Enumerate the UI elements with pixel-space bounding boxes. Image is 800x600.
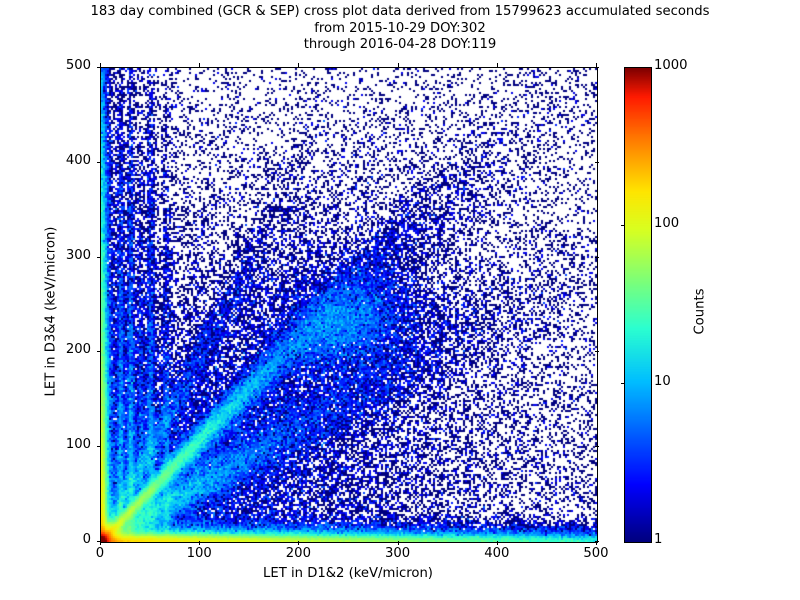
- colorbar-tick-label: 10: [654, 374, 671, 389]
- colorbar-tick-mark: [621, 225, 625, 226]
- y-tick-mark: [97, 162, 101, 163]
- y-tick-mark: [595, 541, 599, 542]
- y-tick-label: 200: [31, 342, 91, 357]
- y-axis-label: LET in D3&4 (keV/micron): [44, 172, 59, 452]
- x-tick-mark: [497, 63, 498, 67]
- y-tick-label: 0: [31, 532, 91, 547]
- y-tick-mark: [97, 541, 101, 542]
- y-tick-mark: [595, 257, 599, 258]
- x-tick-mark: [199, 63, 200, 67]
- title-line-1: 183 day combined (GCR & SEP) cross plot …: [0, 4, 800, 21]
- plot-area: [100, 67, 598, 543]
- title-line-2: from 2015-10-29 DOY:302: [0, 21, 800, 38]
- x-tick-mark: [497, 541, 498, 545]
- density-scatter-canvas: [101, 68, 597, 542]
- x-tick-mark: [298, 541, 299, 545]
- y-tick-label: 100: [31, 437, 91, 452]
- colorbar-gradient: [625, 68, 651, 542]
- y-tick-label: 400: [31, 153, 91, 168]
- x-tick-mark: [199, 541, 200, 545]
- colorbar-tick-label: 1000: [654, 58, 688, 73]
- y-tick-mark: [97, 257, 101, 258]
- x-tick-mark: [398, 541, 399, 545]
- colorbar-title: Counts: [693, 212, 708, 412]
- y-tick-mark: [97, 67, 101, 68]
- y-tick-label: 500: [31, 58, 91, 73]
- x-tick-label: 500: [566, 546, 626, 561]
- x-tick-mark: [298, 63, 299, 67]
- colorbar: [624, 67, 652, 543]
- x-tick-label: 200: [268, 546, 328, 561]
- x-tick-label: 300: [368, 546, 428, 561]
- title-line-3: through 2016-04-28 DOY:119: [0, 37, 800, 54]
- figure-root: 183 day combined (GCR & SEP) cross plot …: [0, 0, 800, 600]
- y-tick-mark: [97, 351, 101, 352]
- y-tick-mark: [595, 162, 599, 163]
- colorbar-tick-label: 1: [654, 532, 662, 547]
- y-tick-label: 300: [31, 248, 91, 263]
- y-tick-mark: [97, 446, 101, 447]
- x-axis-label: LET in D1&2 (keV/micron): [100, 566, 596, 581]
- colorbar-tick-label: 100: [654, 216, 679, 231]
- colorbar-tick-mark: [621, 383, 625, 384]
- x-tick-label: 400: [467, 546, 527, 561]
- x-tick-label: 0: [70, 546, 130, 561]
- y-tick-mark: [595, 351, 599, 352]
- x-tick-label: 100: [169, 546, 229, 561]
- figure-title: 183 day combined (GCR & SEP) cross plot …: [0, 4, 800, 54]
- y-tick-mark: [595, 446, 599, 447]
- x-tick-mark: [398, 63, 399, 67]
- y-tick-mark: [595, 67, 599, 68]
